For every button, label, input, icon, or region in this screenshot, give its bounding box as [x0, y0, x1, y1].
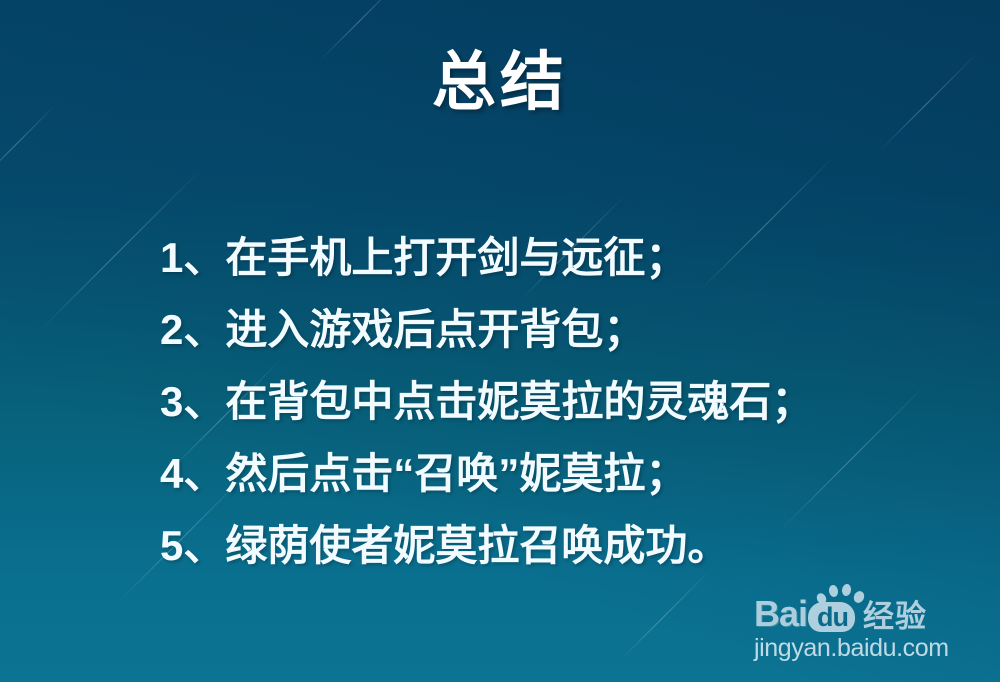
list-item: 5、绿荫使者妮莫拉召唤成功。: [160, 510, 813, 582]
watermark-logo-row: Bai du 经验: [754, 592, 986, 632]
list-item: 3、在背包中点击妮莫拉的灵魂石；: [160, 366, 813, 438]
summary-step-list: 1、在手机上打开剑与远征； 2、进入游戏后点开背包； 3、在背包中点击妮莫拉的灵…: [160, 222, 813, 582]
slide-canvas: 总结 1、在手机上打开剑与远征； 2、进入游戏后点开背包； 3、在背包中点击妮莫…: [0, 0, 1000, 682]
list-item: 4、然后点击“召唤”妮莫拉；: [160, 438, 813, 510]
watermark-cloud-badge: du: [808, 602, 855, 632]
list-item: 1、在手机上打开剑与远征；: [160, 222, 813, 294]
watermark-brand-latin-cloud: du: [817, 604, 848, 631]
watermark-brand-cn: 经验: [863, 601, 927, 632]
paw-print-icon: [816, 582, 868, 606]
watermark-brand-latin: Bai: [754, 596, 807, 632]
watermark-url: jingyan.baidu.com: [754, 635, 986, 661]
page-title: 总结: [0, 46, 1000, 120]
list-item: 2、进入游戏后点开背包；: [160, 294, 813, 366]
baidu-jingyan-watermark: Bai du 经验 jingyan.baidu.com: [754, 592, 986, 662]
streak-line: [620, 568, 713, 661]
